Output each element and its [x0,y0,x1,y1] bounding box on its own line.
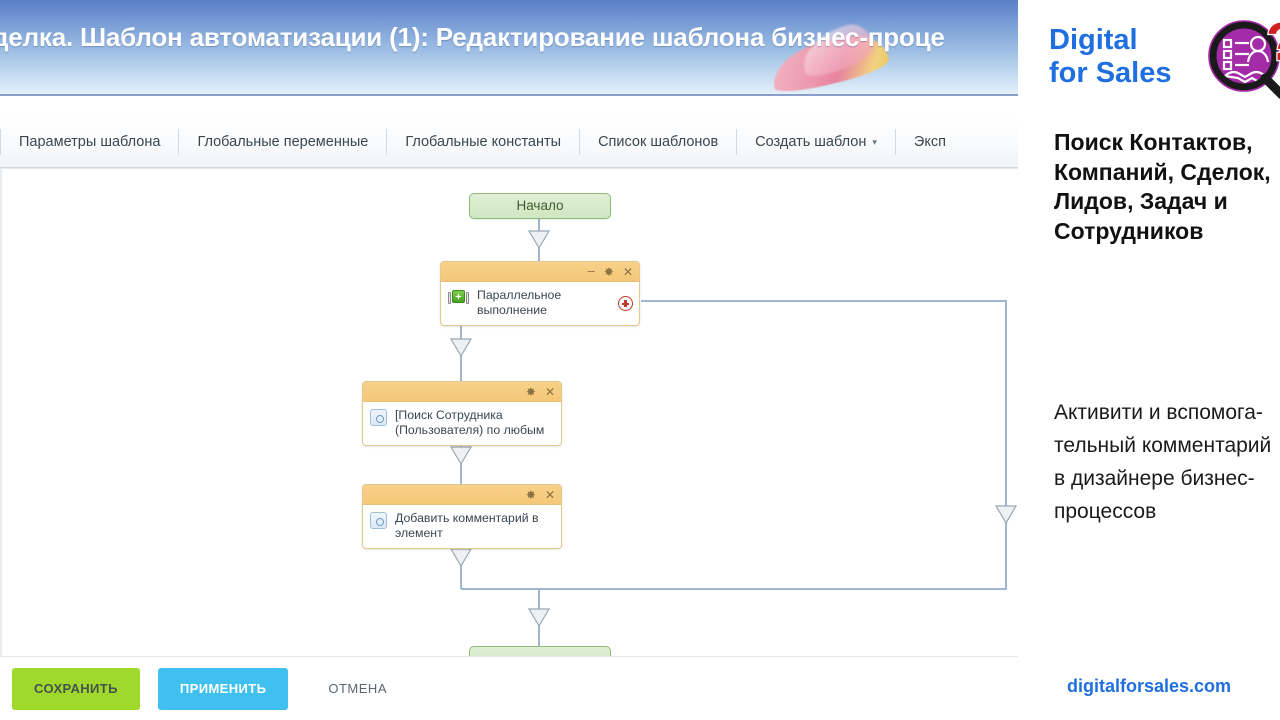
action-footer: СОХРАНИТЬ ПРИМЕНИТЬ ОТМЕНА [0,656,1018,720]
app-region: делка. Шаблон автоматизации (1): Редакти… [0,0,1018,720]
cancel-button[interactable]: ОТМЕНА [306,668,409,710]
chevron-down-icon: ▾ [872,125,877,159]
parallel-execution-icon [448,290,469,305]
activity-icon [370,409,387,426]
flow-node-label: Добавить комментарий в элемент [395,511,539,541]
flow-node-header: ✸ ✕ [363,382,561,402]
header-gap-strip [0,96,1018,116]
flow-node-label: Параллельное выполнение [477,288,561,318]
flow-node-body: Добавить комментарий в элемент [363,505,561,548]
flow-node-label: [Поиск Сотрудника (Пользователя) по любы… [395,408,544,438]
flow-arrow [451,339,471,356]
close-icon[interactable]: ✕ [623,266,633,278]
app-header: делка. Шаблон автоматизации (1): Редакти… [0,0,1018,96]
brand-name: Digital for Sales [1049,24,1172,90]
template-toolbar: Параметры шаблона Глобальные переменные … [0,116,1018,168]
minimize-icon[interactable]: – [588,264,595,277]
toolbar-item-label: Эксп [914,134,946,150]
flow-arrow [451,549,471,566]
close-icon[interactable]: ✕ [545,386,555,398]
search-handshake-question-logo: ? [1204,16,1280,104]
svg-text:?: ? [1266,16,1280,72]
toolbar-item-label: Список шаблонов [598,134,718,150]
toolbar-item-create-template[interactable]: Создать шаблон▾ [737,125,895,159]
flow-arrow [996,506,1016,523]
toolbar-item-label: Глобальные константы [405,134,561,150]
promo-sidebar: Digital for Sales [1018,0,1280,720]
gear-icon[interactable]: ✸ [604,266,614,278]
flow-node-search-employee[interactable]: ✸ ✕ [Поиск Сотрудника (Пользователя) по … [362,381,562,446]
flow-arrow [529,231,549,248]
toolbar-item-label: Глобальные переменные [197,134,368,150]
toolbar-item-template-params[interactable]: Параметры шаблона [1,125,178,159]
flow-node-end[interactable] [469,646,611,656]
flow-arrow [451,447,471,464]
flow-node-body: [Поиск Сотрудника (Пользователя) по любы… [363,402,561,445]
page-title: делка. Шаблон автоматизации (1): Редакти… [0,22,1018,53]
sidebar-body-text: Активити и вспомога-тельный комментарий … [1054,396,1280,528]
toolbar-item-global-variables[interactable]: Глобальные переменные [179,125,386,159]
toolbar-item-export[interactable]: Эксп [896,125,964,159]
save-button[interactable]: СОХРАНИТЬ [12,668,140,710]
website-link[interactable]: digitalforsales.com [1018,676,1280,697]
toolbar-item-global-constants[interactable]: Глобальные константы [387,125,579,159]
flow-node-add-comment[interactable]: ✸ ✕ Добавить комментарий в элемент [362,484,562,549]
toolbar-item-template-list[interactable]: Список шаблонов [580,125,736,159]
flow-node-header: ✸ ✕ [363,485,561,505]
flow-node-start[interactable]: Начало [469,193,611,219]
screenshot-root: делка. Шаблон автоматизации (1): Редакти… [0,0,1280,720]
apply-button[interactable]: ПРИМЕНИТЬ [158,668,288,710]
toolbar-item-label: Параметры шаблона [19,134,160,150]
flow-node-header: – ✸ ✕ [441,262,639,282]
add-branch-button[interactable] [618,296,633,311]
toolbar-item-label: Создать шаблон [755,134,866,150]
sidebar-heading: Поиск Контактов, Компаний, Сделок, Лидов… [1054,128,1280,246]
activity-icon [370,512,387,529]
gear-icon[interactable]: ✸ [526,489,536,501]
flow-arrow [529,609,549,626]
flow-node-parallel-execution[interactable]: – ✸ ✕ Параллельное выполнение [440,261,640,326]
gear-icon[interactable]: ✸ [526,386,536,398]
close-icon[interactable]: ✕ [545,489,555,501]
flow-node-body: Параллельное выполнение [441,282,639,325]
bpm-designer-canvas[interactable]: Начало – ✸ ✕ Параллельное выполнение [0,168,1018,656]
flow-node-label: Начало [516,198,563,213]
brand-block: Digital for Sales [1034,14,1280,106]
